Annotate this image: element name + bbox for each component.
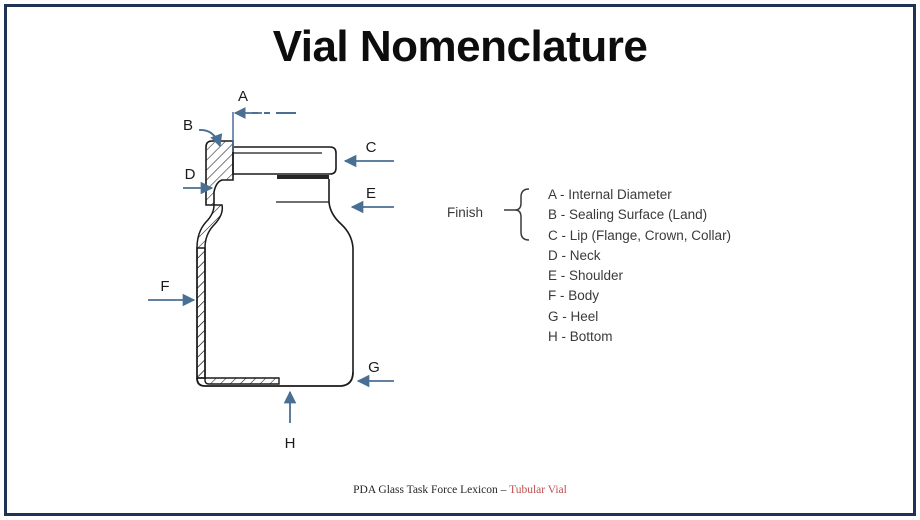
legend-item-b: B - Sealing Surface (Land) [548, 205, 878, 225]
legend-item-d: D - Neck [548, 246, 878, 266]
callout-label-b: B [183, 117, 193, 134]
footer-separator: – [501, 484, 509, 496]
callout-label-h: H [285, 435, 296, 452]
legend-item-a: A - Internal Diameter [548, 185, 878, 205]
nomenclature-legend: A - Internal Diameter B - Sealing Surfac… [548, 185, 878, 347]
vial-bottom-section-hatched [205, 378, 279, 384]
vial-body-wall-section-hatched [197, 248, 205, 378]
callout-label-d: D [185, 166, 196, 183]
vial-lip-outline [233, 147, 336, 174]
legend-item-h: H - Bottom [548, 327, 878, 347]
legend-item-g: G - Heel [548, 307, 878, 327]
legend-item-f: F - Body [548, 286, 878, 306]
legend-item-c: C - Lip (Flange, Crown, Collar) [548, 226, 878, 246]
callout-label-c: C [366, 139, 377, 156]
callout-label-f: F [160, 278, 169, 295]
slide-canvas: Vial Nomenclature [0, 0, 920, 520]
finish-group-label: Finish [447, 205, 483, 220]
vial-lip-section-hatched [206, 141, 233, 205]
callout-label-g: G [368, 359, 380, 376]
vial-shoulder-right-profile [329, 202, 353, 372]
footer-accent-text: Tubular Vial [509, 484, 567, 496]
legend-item-e: E - Shoulder [548, 266, 878, 286]
slide-footer: PDA Glass Task Force Lexicon – Tubular V… [0, 484, 920, 496]
vial-lip-underband [277, 175, 329, 179]
callout-label-e: E [366, 185, 376, 202]
callout-label-a: A [238, 88, 248, 105]
finish-group-bracket [515, 189, 529, 240]
footer-source-text: PDA Glass Task Force Lexicon [353, 484, 501, 496]
